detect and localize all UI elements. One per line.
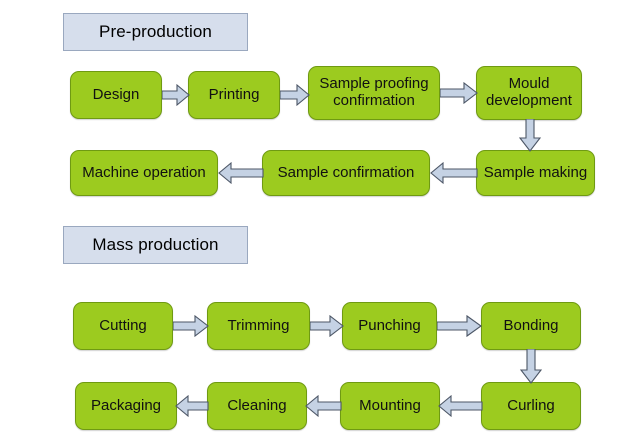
arrow-trimming-to-punching	[310, 314, 344, 338]
node-sample-making[interactable]: Sample making	[476, 150, 595, 196]
node-bonding[interactable]: Bonding	[481, 302, 581, 350]
node-label: Printing	[193, 87, 275, 104]
node-label: Sample confirmation	[267, 165, 425, 182]
node-label: Curling	[486, 398, 576, 415]
node-curling[interactable]: Curling	[481, 382, 581, 430]
node-mould-development[interactable]: Mould development	[476, 66, 582, 120]
section-label-text: Pre-production	[99, 22, 212, 42]
node-label: Sample making	[481, 165, 590, 182]
node-cleaning[interactable]: Cleaning	[207, 382, 307, 430]
node-label: Cutting	[78, 318, 168, 335]
node-label: Bonding	[486, 318, 576, 335]
node-label: Mounting	[345, 398, 435, 415]
node-label: Machine operation	[75, 165, 213, 182]
node-label: Mould development	[481, 76, 577, 110]
node-label: Punching	[347, 318, 432, 335]
node-label: Packaging	[80, 398, 172, 415]
arrow-printing-to-sample-proofing	[280, 83, 310, 107]
node-label: Design	[75, 87, 157, 104]
arrow-cutting-to-trimming	[173, 314, 209, 338]
arrow-design-to-printing	[162, 83, 190, 107]
node-sample-confirmation[interactable]: Sample confirmation	[262, 150, 430, 196]
arrow-curling-to-mounting	[438, 394, 483, 418]
arrow-sample-proofing-to-mould-development	[440, 81, 478, 105]
arrow-sample-making-to-sample-confirmation	[430, 161, 478, 185]
node-label: Sample proofing confirmation	[313, 76, 435, 110]
node-mounting[interactable]: Mounting	[340, 382, 440, 430]
arrow-bonding-to-curling	[519, 349, 543, 384]
node-punching[interactable]: Punching	[342, 302, 437, 350]
node-label: Trimming	[212, 318, 305, 335]
node-cutting[interactable]: Cutting	[73, 302, 173, 350]
arrow-punching-to-bonding	[437, 314, 483, 338]
section-label-text: Mass production	[92, 235, 218, 255]
node-machine-operation[interactable]: Machine operation	[70, 150, 218, 196]
arrow-cleaning-to-packaging	[175, 394, 209, 418]
flowchart-canvas: Pre-production Design Printing Sample pr…	[0, 0, 631, 446]
node-design[interactable]: Design	[70, 71, 162, 119]
node-label: Cleaning	[212, 398, 302, 415]
arrow-mounting-to-cleaning	[305, 394, 342, 418]
node-packaging[interactable]: Packaging	[75, 382, 177, 430]
node-printing[interactable]: Printing	[188, 71, 280, 119]
node-trimming[interactable]: Trimming	[207, 302, 310, 350]
arrow-mould-development-to-sample-making	[518, 119, 542, 152]
node-sample-proofing-confirmation[interactable]: Sample proofing confirmation	[308, 66, 440, 120]
section-label-mass-production: Mass production	[63, 226, 248, 264]
arrow-sample-confirmation-to-machine-operation	[218, 161, 264, 185]
section-label-pre-production: Pre-production	[63, 13, 248, 51]
